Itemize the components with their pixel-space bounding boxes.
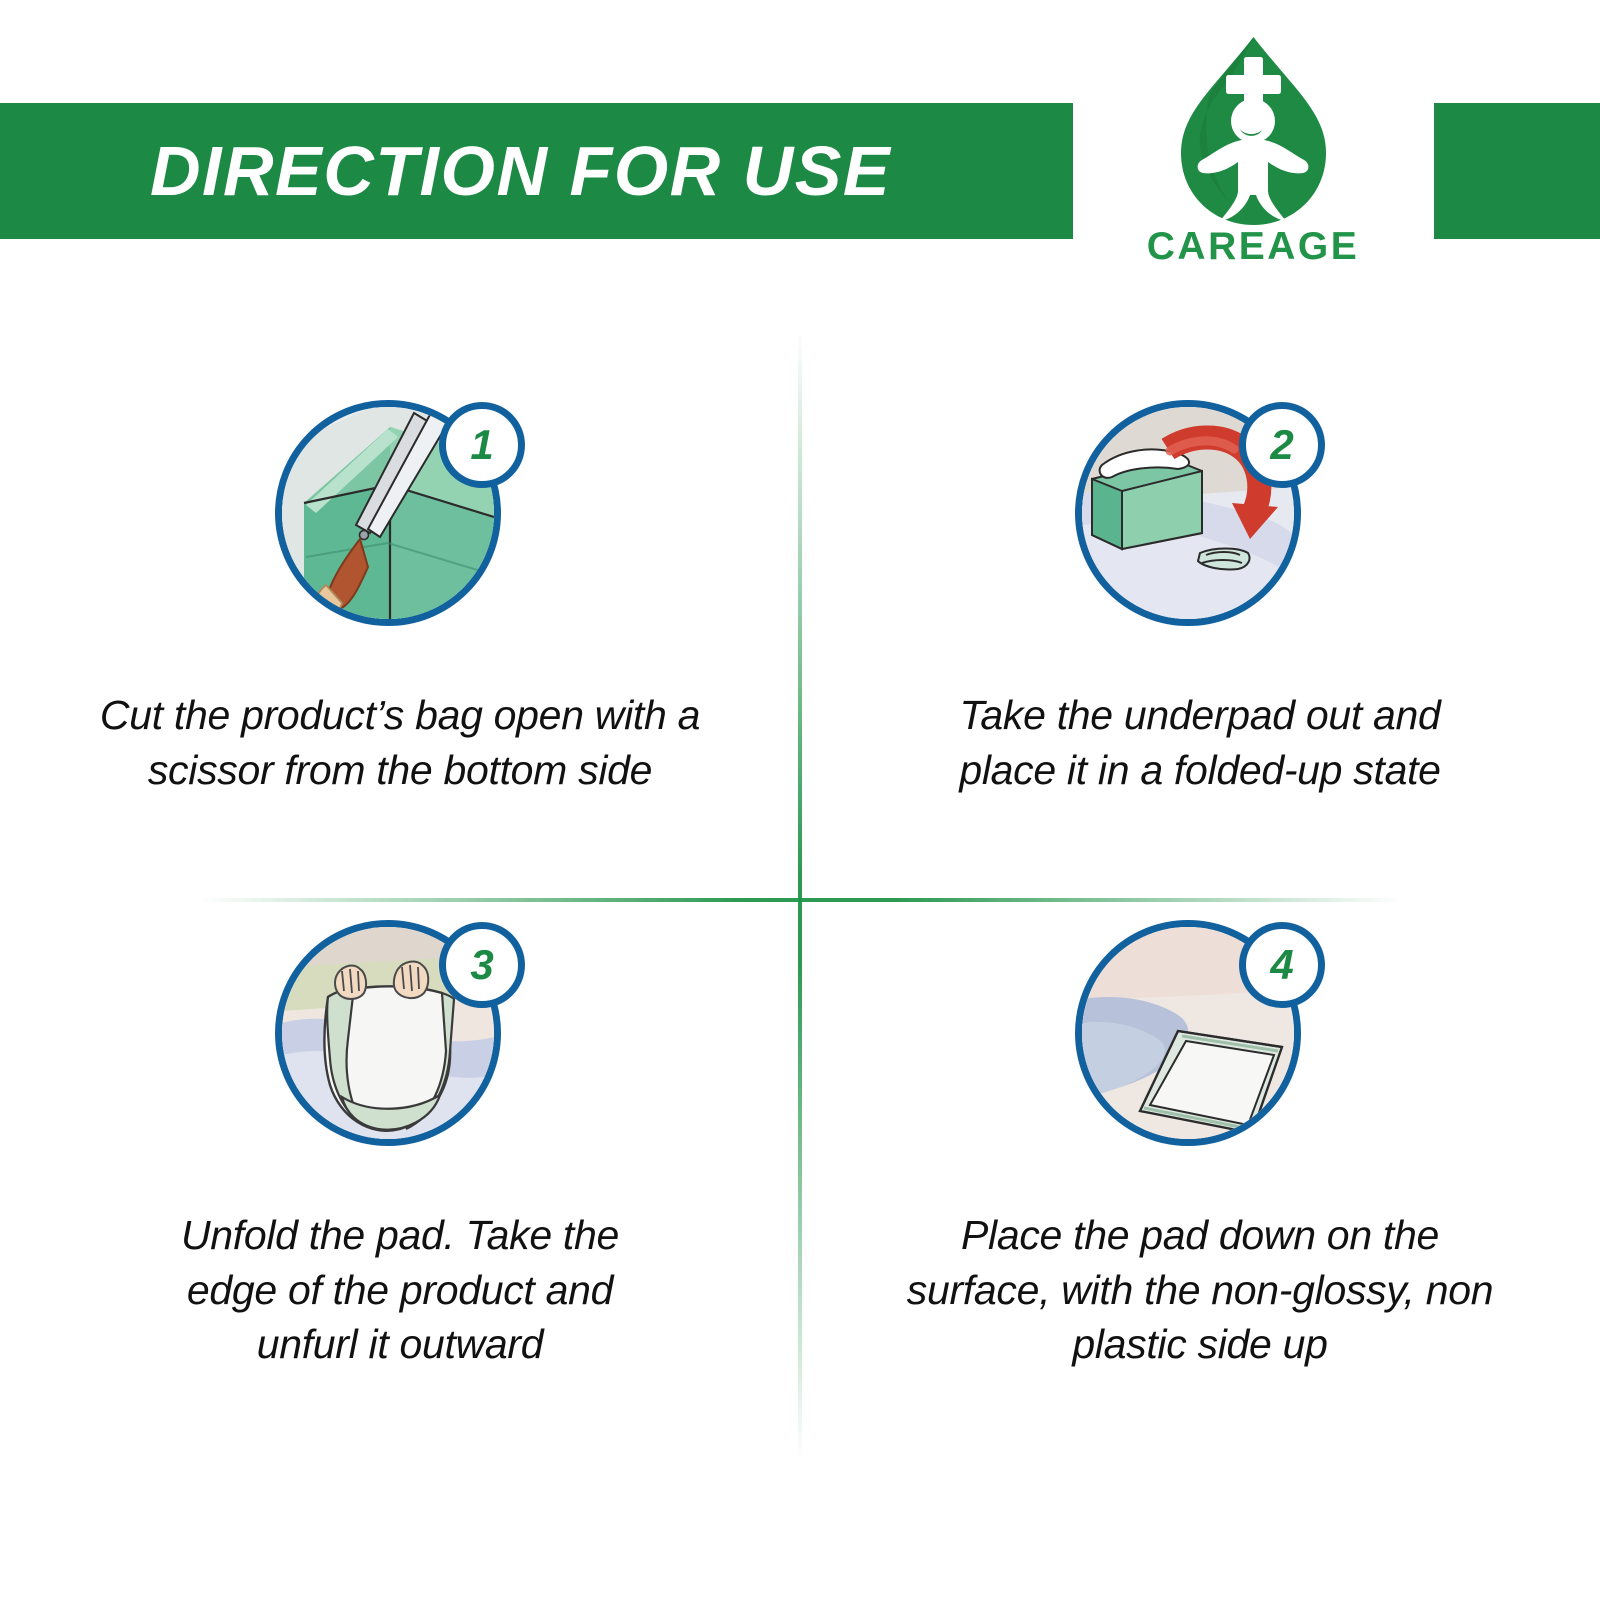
header: DIRECTION FOR USE CAREAGE xyxy=(0,0,1600,310)
step-number-badge: 1 xyxy=(439,402,525,488)
brand-name: CAREAGE xyxy=(1147,227,1360,266)
step-card-3: 3 Unfold the pad. Take the edge of the p… xyxy=(0,900,800,1445)
step-card-4: 4 Place the pad down on the surface, wit… xyxy=(800,900,1600,1445)
page-title: DIRECTION FOR USE xyxy=(150,103,891,239)
step-illustration-1: 1 xyxy=(275,400,525,650)
steps-grid: 1 Cut the product’s bag open with a scis… xyxy=(0,380,1600,1530)
step-card-1: 1 Cut the product’s bag open with a scis… xyxy=(0,380,800,900)
step-caption: Cut the product’s bag open with a scisso… xyxy=(90,688,710,797)
step-number-badge: 3 xyxy=(439,922,525,1008)
header-banner-right xyxy=(1434,103,1600,239)
step-caption: Place the pad down on the surface, with … xyxy=(890,1208,1510,1372)
brand-logo: CAREAGE xyxy=(1073,25,1433,285)
step-illustration-2: 2 xyxy=(1075,400,1325,650)
step-caption: Take the underpad out and place it in a … xyxy=(940,688,1460,797)
step-illustration-3: 3 xyxy=(275,920,525,1170)
step-caption: Unfold the pad. Take the edge of the pro… xyxy=(140,1208,660,1372)
step-card-2: 2 Take the underpad out and place it in … xyxy=(800,380,1600,900)
step-number-badge: 4 xyxy=(1239,922,1325,1008)
step-illustration-4: 4 xyxy=(1075,920,1325,1170)
step-number-badge: 2 xyxy=(1239,402,1325,488)
droplet-medical-cross-person-icon xyxy=(1166,31,1341,231)
